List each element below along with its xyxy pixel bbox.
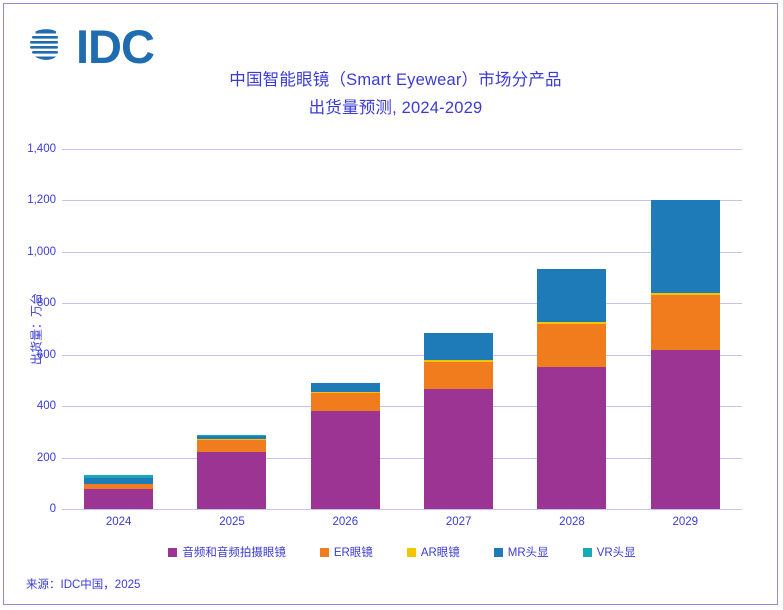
bar-segment[interactable] — [651, 295, 720, 350]
bar-column[interactable] — [402, 149, 515, 509]
x-axis-line — [62, 509, 742, 510]
y-axis-tick-label: 0 — [50, 503, 56, 515]
y-axis-tick-label: 1,200 — [27, 194, 56, 206]
stacked-bar[interactable] — [84, 475, 153, 509]
legend-label: 音频和音频拍摄眼镜 — [182, 544, 286, 560]
legend-item[interactable]: AR眼镜 — [407, 544, 460, 560]
chart-title-line-1: 中国智能眼镜（Smart Eyewear）市场分产品 — [4, 66, 783, 94]
bar-segment[interactable] — [311, 411, 380, 509]
bar-segment[interactable] — [311, 393, 380, 412]
x-axis-tick-label: 2028 — [515, 516, 628, 528]
bar-segment[interactable] — [424, 389, 493, 509]
legend-item[interactable]: 音频和音频拍摄眼镜 — [168, 544, 286, 560]
bar-segment[interactable] — [197, 452, 266, 509]
y-axis-tick-label: 800 — [37, 297, 56, 309]
chart-legend: 音频和音频拍摄眼镜ER眼镜AR眼镜MR头显VR头显 — [62, 544, 742, 560]
legend-swatch — [583, 548, 592, 557]
bar-column[interactable] — [629, 149, 742, 509]
source-note: 来源：IDC中国，2025 — [26, 576, 140, 592]
legend-swatch — [168, 548, 177, 557]
legend-label: ER眼镜 — [334, 544, 373, 560]
chart-title: 中国智能眼镜（Smart Eyewear）市场分产品 出货量预测, 2024-2… — [4, 66, 783, 122]
stacked-bar[interactable] — [424, 333, 493, 509]
bar-series-layer — [62, 149, 742, 509]
y-axis-tick-label: 600 — [37, 349, 56, 361]
bar-segment[interactable] — [651, 200, 720, 292]
legend-swatch — [320, 548, 329, 557]
legend-label: MR头显 — [508, 544, 549, 560]
legend-label: VR头显 — [597, 544, 636, 560]
legend-swatch — [407, 548, 416, 557]
x-axis-tick-label: 2025 — [175, 516, 288, 528]
bar-segment[interactable] — [424, 333, 493, 360]
stacked-bar[interactable] — [197, 435, 266, 509]
chart-plot-area: 出货量：万台 02004006008001,0001,2001,400 — [62, 149, 742, 509]
bar-segment[interactable] — [84, 489, 153, 509]
bar-segment[interactable] — [197, 440, 266, 452]
stacked-bar[interactable] — [537, 269, 606, 509]
bar-column[interactable] — [175, 149, 288, 509]
stacked-bar[interactable] — [651, 200, 720, 509]
bar-column[interactable] — [62, 149, 175, 509]
legend-item[interactable]: MR头显 — [494, 544, 549, 560]
x-axis-tick-label: 2029 — [629, 516, 742, 528]
idc-logo: IDC — [26, 22, 154, 70]
bar-segment[interactable] — [651, 350, 720, 509]
stacked-bar[interactable] — [311, 383, 380, 509]
bar-column[interactable] — [515, 149, 628, 509]
x-axis-tick-label: 2026 — [289, 516, 402, 528]
bar-segment[interactable] — [311, 383, 380, 391]
legend-item[interactable]: VR头显 — [583, 544, 636, 560]
legend-swatch — [494, 548, 503, 557]
bar-segment[interactable] — [537, 269, 606, 322]
x-axis-tick-label: 2027 — [402, 516, 515, 528]
x-axis-labels: 202420252026202720282029 — [62, 516, 742, 528]
y-axis-tick-label: 1,000 — [27, 246, 56, 258]
idc-globe-icon — [26, 22, 74, 70]
idc-wordmark: IDC — [76, 23, 154, 70]
bar-segment[interactable] — [537, 324, 606, 367]
x-axis-tick-label: 2024 — [62, 516, 175, 528]
y-axis-tick-label: 400 — [37, 400, 56, 412]
y-axis-tick-label: 1,400 — [27, 143, 56, 155]
bar-column[interactable] — [289, 149, 402, 509]
y-axis-tick-label: 200 — [37, 452, 56, 464]
legend-label: AR眼镜 — [421, 544, 460, 560]
bar-segment[interactable] — [537, 367, 606, 509]
bar-segment[interactable] — [424, 362, 493, 389]
legend-item[interactable]: ER眼镜 — [320, 544, 373, 560]
chart-card: IDC 中国智能眼镜（Smart Eyewear）市场分产品 出货量预测, 20… — [3, 3, 778, 605]
chart-title-line-2: 出货量预测, 2024-2029 — [4, 94, 783, 122]
